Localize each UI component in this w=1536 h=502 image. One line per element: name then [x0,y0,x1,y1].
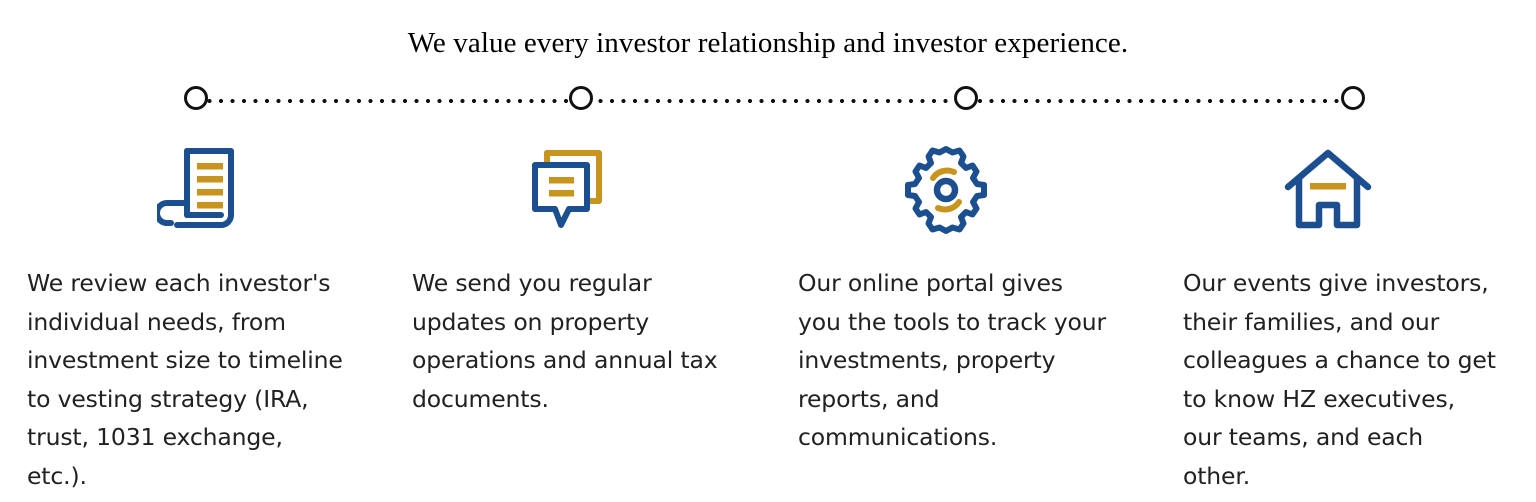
timeline-node-4[interactable] [1341,86,1365,110]
feature-text-2: We send you regular updates on property … [412,264,728,418]
feature-column-4: Our events give investors, their familie… [1152,140,1536,495]
feature-column-2: We send you regular updates on property … [384,140,768,495]
gear-icon [900,144,992,236]
timeline-node-1[interactable] [184,86,208,110]
feature-text-3: Our online portal gives you the tools to… [798,264,1112,457]
icon-container-4 [1183,140,1496,240]
investor-experience-section: We value every investor relationship and… [0,0,1536,502]
timeline [0,86,1536,118]
icon-container-3 [798,140,1112,240]
house-icon [1283,145,1373,235]
document-scroll-icon [157,145,243,235]
feature-text-4: Our events give investors, their familie… [1183,264,1496,495]
speech-bubbles-icon [525,145,611,235]
feature-column-1: We review each investor's individual nee… [0,140,384,495]
timeline-node-3[interactable] [954,86,978,110]
timeline-dotted-track [196,99,1353,103]
icon-container-1 [27,140,344,240]
page-title: We value every investor relationship and… [0,24,1536,62]
feature-text-1: We review each investor's individual nee… [27,264,344,495]
feature-columns: We review each investor's individual nee… [0,140,1536,495]
feature-column-3: Our online portal gives you the tools to… [768,140,1152,495]
icon-container-2 [412,140,728,240]
timeline-node-2[interactable] [569,86,593,110]
